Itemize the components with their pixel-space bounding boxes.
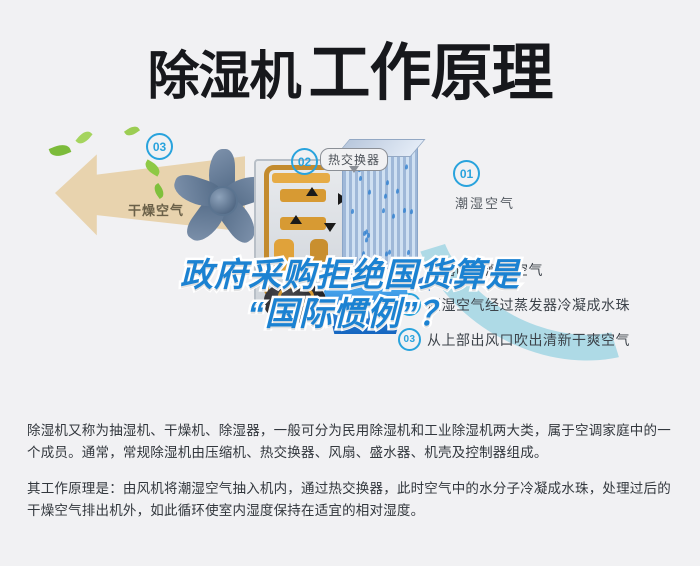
legend-text: 机器吸入潮湿空气 [427,260,543,280]
compressor-pipe-icon [278,285,314,307]
humid-air-label: 潮湿空气 [455,193,515,212]
condensation-drop-icon [410,209,413,215]
condensation-drop-icon [351,208,354,214]
copper-pipe-icon [280,217,326,230]
flow-arrow-icon [290,215,302,224]
infographic-page: 除湿机工作原理 干燥空气 [0,0,700,566]
condensation-drop-icon [386,180,389,186]
condensation-drop-icon [403,208,406,214]
condensation-drop-icon [405,164,408,170]
legend-badge: 01 [398,258,421,281]
legend-list: 01 机器吸入潮湿空气 02 潮湿空气经过蒸发器冷凝成水珠 03 从上部出风口吹… [398,258,698,363]
legend-text: 从上部出风口吹出清新干爽空气 [427,330,630,350]
condensation-drop-icon [396,188,399,194]
legend-badge: 03 [398,328,421,351]
badge-02: 02 [291,148,318,175]
condensation-drop-icon [382,208,385,214]
condensation-drop-icon [392,213,395,219]
body-copy: 除湿机又称为抽湿机、干燥机、除湿器，一般可分为民用除湿机和工业除湿机两大类，属于… [27,420,677,536]
condensation-drop-icon [368,190,371,196]
leaf-icon [49,142,72,160]
page-title-part2: 工作原理 [309,39,553,108]
leaf-icon [75,128,92,146]
body-paragraph-1: 除湿机又称为抽湿机、干燥机、除湿器，一般可分为民用除湿机和工业除湿机两大类，属于… [27,420,677,464]
copper-pipe-icon [274,239,294,273]
flow-arrow-icon [306,187,318,196]
page-title-part1: 除湿机 [147,48,300,106]
fan-hub-icon [208,186,238,216]
condensation-drop-icon [359,257,362,263]
badge-01: 01 [453,160,480,187]
condensation-drop-icon [365,237,368,243]
water-drip-arrow-icon [358,271,372,285]
condensation-drop-icon [385,251,388,257]
condensation-drop-icon [359,175,362,181]
legend-text: 潮湿空气经过蒸发器冷凝成水珠 [427,295,630,315]
legend-badge: 02 [398,293,421,316]
copper-pipe-icon [280,189,326,202]
copper-pipe-icon [310,239,328,269]
body-paragraph-2: 其工作原理是：由风机将潮湿空气抽入机内，通过热交换器，此时空气中的水分子冷凝成水… [27,478,677,522]
condensation-drop-icon [362,251,365,257]
badge-03: 03 [146,133,173,160]
leaf-icon [124,124,140,139]
condensation-drop-icon [407,249,410,255]
legend-item: 03 从上部出风口吹出清新干爽空气 [398,328,698,351]
legend-item: 02 潮湿空气经过蒸发器冷凝成水珠 [398,293,698,316]
condensation-drop-icon [388,250,391,256]
water-tank-label: 水箱 [346,305,370,321]
flow-arrow-icon [324,223,336,232]
heat-exchanger-callout: 热交换器 [320,148,388,171]
condensation-drop-icon [384,194,387,200]
condensation-drop-icon [348,267,351,273]
page-title: 除湿机工作原理 [0,22,700,112]
legend-item: 01 机器吸入潮湿空气 [398,258,698,281]
